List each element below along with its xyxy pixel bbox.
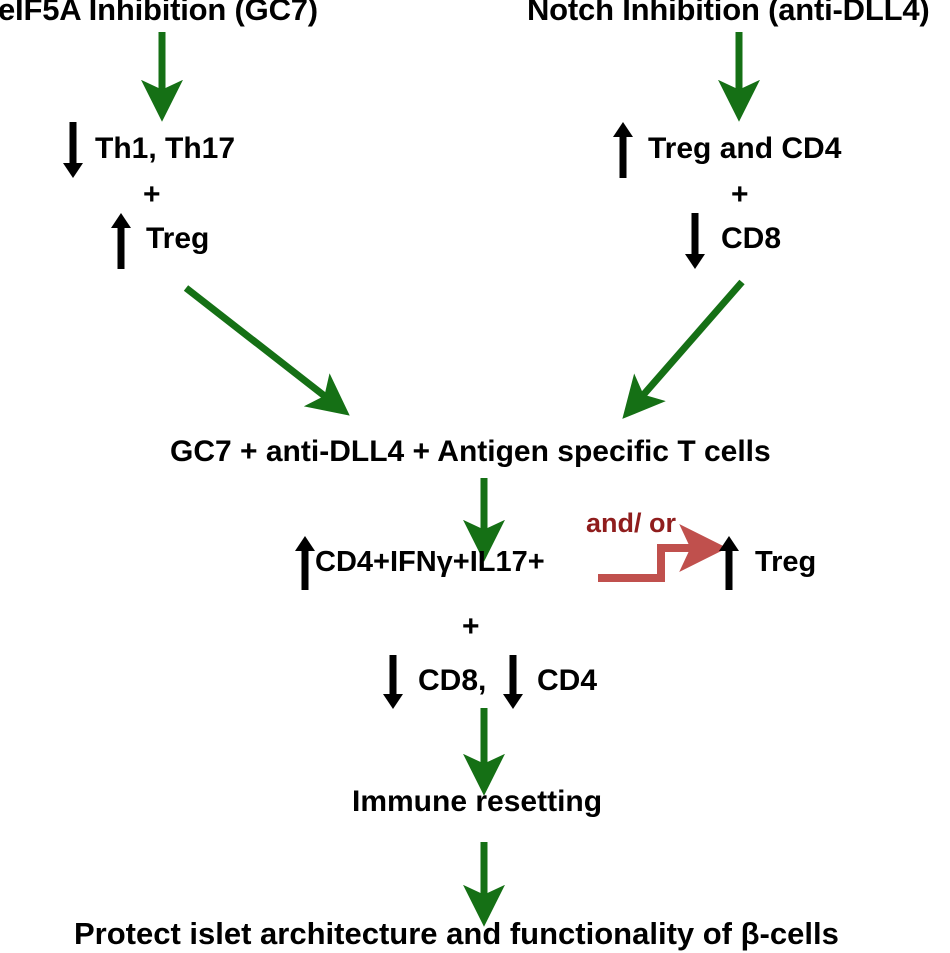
node-cd8-bottom: CD8, <box>418 666 486 696</box>
down-arrow-cd8-bottom <box>382 655 404 709</box>
up-arrow-treg-mid <box>718 536 740 590</box>
green-arrow-right-diagonal <box>638 282 742 401</box>
down-arrow-th1-th17 <box>62 122 84 178</box>
node-center-combination: GC7 + anti-DLL4 + Antigen specific T cel… <box>170 437 771 467</box>
node-treg-and-cd4: Treg and CD4 <box>648 134 841 164</box>
down-arrow-cd8-right <box>684 213 706 269</box>
plus-mid: + <box>462 612 480 642</box>
label-and-or: and/ or <box>586 510 676 537</box>
node-cd8-right: CD8 <box>721 224 781 254</box>
up-arrow-treg-left <box>110 213 132 269</box>
title-left: eIF5A Inhibition (GC7) <box>0 0 318 25</box>
red-step-arrow <box>598 548 700 578</box>
plus-right-branch: + <box>731 180 749 210</box>
down-arrow-cd4-bottom <box>502 655 524 709</box>
pathway-diagram: eIF5A Inhibition (GC7) Notch Inhibition … <box>0 0 950 953</box>
up-arrow-treg-cd4 <box>612 122 634 178</box>
node-immune-resetting: Immune resetting <box>352 787 602 817</box>
node-treg-mid: Treg <box>755 548 816 577</box>
plus-left-branch: + <box>143 180 161 210</box>
node-treg-left: Treg <box>146 224 209 254</box>
up-arrow-cd4-ifng-il17 <box>294 536 316 590</box>
green-arrow-left-diagonal <box>186 288 331 401</box>
title-right: Notch Inhibition (anti-DLL4) <box>527 0 930 25</box>
node-cd4-ifng-il17: CD4+IFNγ+IL17+ <box>315 548 545 577</box>
node-th1-th17: Th1, Th17 <box>95 134 235 164</box>
node-cd4-bottom: CD4 <box>537 666 597 696</box>
node-final-outcome: Protect islet architecture and functiona… <box>74 918 839 949</box>
